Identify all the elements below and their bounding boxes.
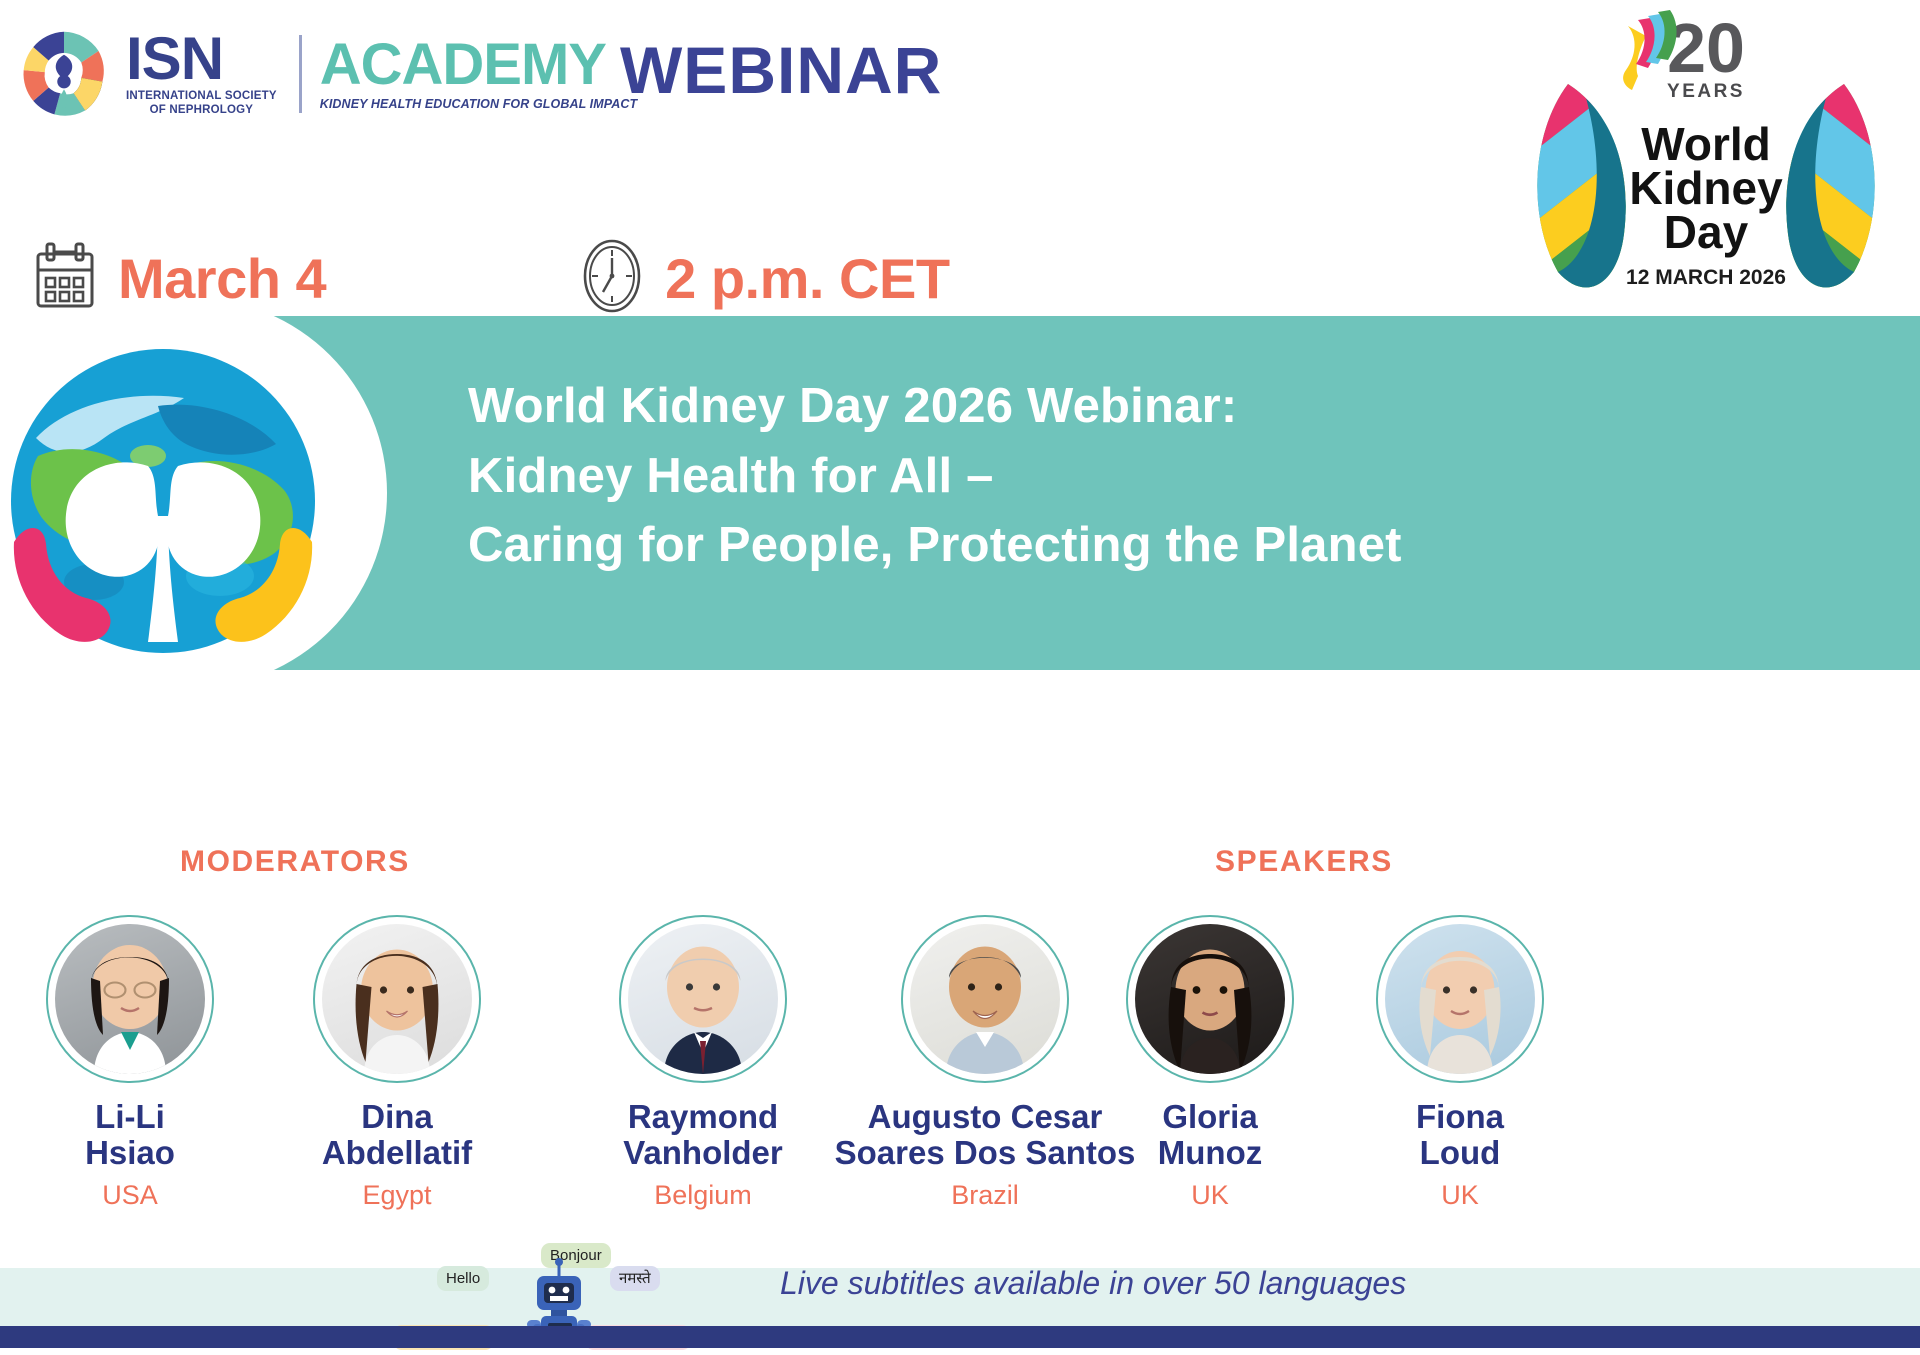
people-row: Li-Li Hsiao USA <box>0 915 1920 1245</box>
isn-acronym: ISN <box>126 30 277 87</box>
banner-title-line1: World Kidney Day 2026 Webinar: <box>468 372 1902 442</box>
clock-icon <box>581 238 643 319</box>
calendar-icon <box>34 242 96 315</box>
avatar <box>1376 915 1544 1083</box>
banner-title-line3: Caring for People, Protecting the Planet <box>468 511 1902 581</box>
bottom-accent-strip <box>0 1326 1920 1348</box>
event-time: 2 p.m. CET <box>581 238 949 319</box>
title-banner: World Kidney Day 2026 Webinar: Kidney He… <box>183 316 1920 670</box>
person-last-name: Loud <box>1335 1135 1585 1171</box>
wkd-name-line3: Day <box>1664 206 1749 258</box>
avatar <box>46 915 214 1083</box>
logo-divider <box>299 35 302 113</box>
subtitle-availability-text: Live subtitles available in over 50 lang… <box>780 1265 1406 1302</box>
world-kidney-day-logo: 20 YEARS World Kidney Day 12 MARCH 2026 <box>1506 4 1906 304</box>
person-card-gloria-munoz: Gloria Munoz UK <box>1085 915 1335 1211</box>
wkd-anniversary-years: YEARS <box>1667 81 1745 102</box>
avatar <box>1126 915 1294 1083</box>
banner-title-line2: Kidney Health for All – <box>468 442 1902 512</box>
wkd-anniversary-number: 20 <box>1667 9 1745 87</box>
person-first-name: Fiona <box>1335 1099 1585 1135</box>
person-last-name: Vanholder <box>578 1135 828 1171</box>
isn-subtitle-line2: OF NEPHROLOGY <box>126 104 277 118</box>
isn-subtitle-line1: INTERNATIONAL SOCIETY <box>126 90 277 104</box>
isn-wordmark: ISN INTERNATIONAL SOCIETY OF NEPHROLOGY <box>126 30 277 117</box>
person-first-name: Raymond <box>578 1099 828 1135</box>
person-country: Belgium <box>578 1180 828 1211</box>
globe-kidneys-hands-icon <box>8 346 318 656</box>
academy-tagline: KIDNEY HEALTH EDUCATION FOR GLOBAL IMPAC… <box>320 97 638 111</box>
language-bubble-hello: Hello <box>437 1266 489 1291</box>
isn-academy-logo: ISN INTERNATIONAL SOCIETY OF NEPHROLOGY … <box>16 26 637 122</box>
moderators-label: MODERATORS <box>180 845 410 879</box>
academy-word: ACADEMY <box>320 37 638 92</box>
person-last-name: Hsiao <box>5 1135 255 1171</box>
language-bubble-namaste: नमस्ते <box>610 1266 660 1291</box>
banner-title: World Kidney Day 2026 Webinar: Kidney He… <box>468 372 1902 581</box>
person-last-name: Munoz <box>1085 1135 1335 1171</box>
avatar <box>901 915 1069 1083</box>
event-time-label: 2 p.m. CET <box>665 246 949 311</box>
person-country: USA <box>5 1180 255 1211</box>
webinar-heading: WEBINAR <box>620 32 942 108</box>
person-first-name: Dina <box>272 1099 522 1135</box>
person-country: UK <box>1335 1180 1585 1211</box>
person-last-name: Abdellatif <box>272 1135 522 1171</box>
person-country: UK <box>1085 1180 1335 1211</box>
speakers-label: SPEAKERS <box>1215 845 1393 879</box>
academy-wordmark: ACADEMY KIDNEY HEALTH EDUCATION FOR GLOB… <box>320 37 638 110</box>
person-card-dina-abdellatif: Dina Abdellatif Egypt <box>272 915 522 1211</box>
person-first-name: Gloria <box>1085 1099 1335 1135</box>
poster-canvas: ISN INTERNATIONAL SOCIETY OF NEPHROLOGY … <box>0 0 1920 1348</box>
person-card-fiona-loud: Fiona Loud UK <box>1335 915 1585 1211</box>
avatar <box>619 915 787 1083</box>
wkd-date: 12 MARCH 2026 <box>1626 266 1786 289</box>
person-card-raymond-vanholder: Raymond Vanholder Belgium <box>578 915 828 1211</box>
person-country: Egypt <box>272 1180 522 1211</box>
isn-mark-icon <box>16 26 112 122</box>
avatar <box>313 915 481 1083</box>
person-card-li-li-hsiao: Li-Li Hsiao USA <box>5 915 255 1211</box>
person-first-name: Li-Li <box>5 1099 255 1135</box>
